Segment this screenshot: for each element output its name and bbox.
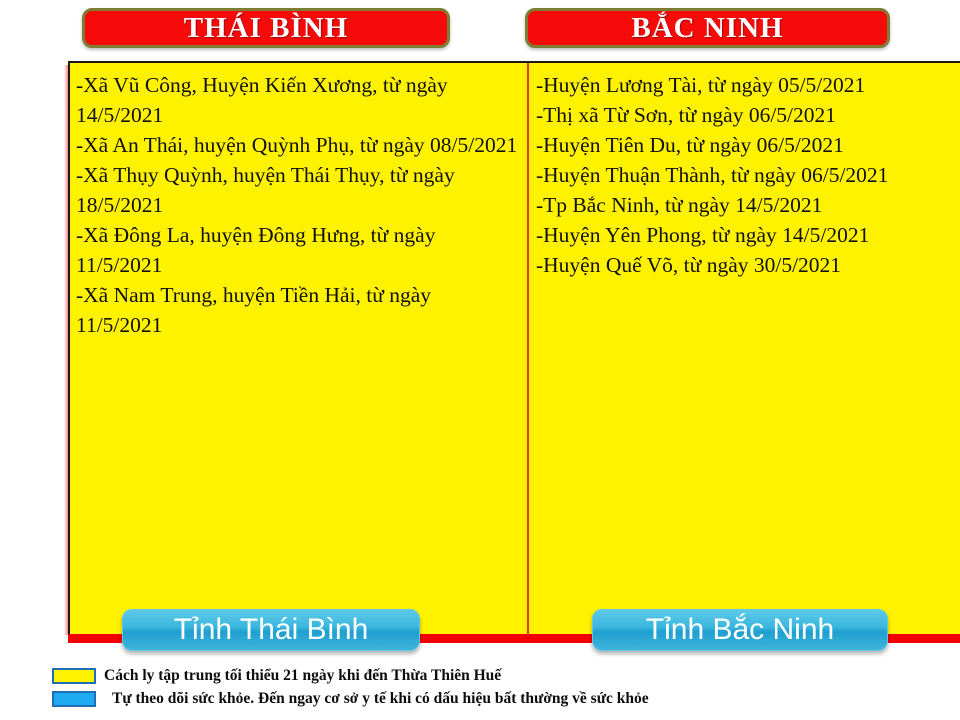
- province-badge-thai-binh-label: Tỉnh Thái Bình: [174, 613, 369, 647]
- list-item: -Xã Đông La, huyện Đông Hưng, từ ngày 11…: [76, 220, 520, 280]
- list-item: -Huyện Quế Võ, từ ngày 30/5/2021: [536, 250, 956, 280]
- list-thai-binh: -Xã Vũ Công, Huyện Kiến Xương, từ ngày 1…: [76, 70, 520, 340]
- list-item: -Huyện Yên Phong, từ ngày 14/5/2021: [536, 220, 956, 250]
- legend: Cách ly tập trung tối thiểu 21 ngày khi …: [52, 664, 932, 710]
- list-item: -Xã Nam Trung, huyện Tiền Hải, từ ngày 1…: [76, 280, 520, 340]
- list-item: -Xã An Thái, huyện Quỳnh Phụ, từ ngày 08…: [76, 130, 520, 160]
- list-item: -Xã Thụy Quỳnh, huyện Thái Thụy, từ ngày…: [76, 160, 520, 220]
- province-badge-bac-ninh: Tỉnh Bắc Ninh: [592, 609, 888, 651]
- list-item: -Tp Bắc Ninh, từ ngày 14/5/2021: [536, 190, 956, 220]
- legend-row-quarantine: Cách ly tập trung tối thiểu 21 ngày khi …: [52, 664, 932, 687]
- legend-row-selfmonitor: Tự theo dõi sức khỏe. Đến ngay cơ sở y t…: [52, 687, 932, 710]
- list-item: -Xã Vũ Công, Huyện Kiến Xương, từ ngày 1…: [76, 70, 520, 130]
- header-badge-thai-binh: THÁI BÌNH: [82, 8, 450, 48]
- legend-label-selfmonitor: Tự theo dõi sức khỏe. Đến ngay cơ sở y t…: [112, 690, 649, 708]
- legend-swatch-yellow-icon: [52, 668, 96, 684]
- list-item: -Thị xã Từ Sơn, từ ngày 06/5/2021: [536, 100, 956, 130]
- header-badge-bac-ninh-label: BẮC NINH: [631, 12, 783, 45]
- province-badge-bac-ninh-label: Tỉnh Bắc Ninh: [646, 613, 834, 647]
- legend-swatch-blue-icon: [52, 691, 96, 707]
- province-badge-thai-binh: Tỉnh Thái Bình: [122, 609, 420, 651]
- list-item: -Huyện Thuận Thành, từ ngày 06/5/2021: [536, 160, 956, 190]
- list-bac-ninh: -Huyện Lương Tài, từ ngày 05/5/2021 -Thị…: [536, 70, 956, 280]
- header-badge-bac-ninh: BẮC NINH: [525, 8, 890, 48]
- board-column-divider: [527, 63, 529, 634]
- header-badge-thai-binh-label: THÁI BÌNH: [184, 12, 349, 45]
- list-item: -Huyện Lương Tài, từ ngày 05/5/2021: [536, 70, 956, 100]
- list-item: -Huyện Tiên Du, từ ngày 06/5/2021: [536, 130, 956, 160]
- legend-label-quarantine: Cách ly tập trung tối thiểu 21 ngày khi …: [104, 667, 501, 685]
